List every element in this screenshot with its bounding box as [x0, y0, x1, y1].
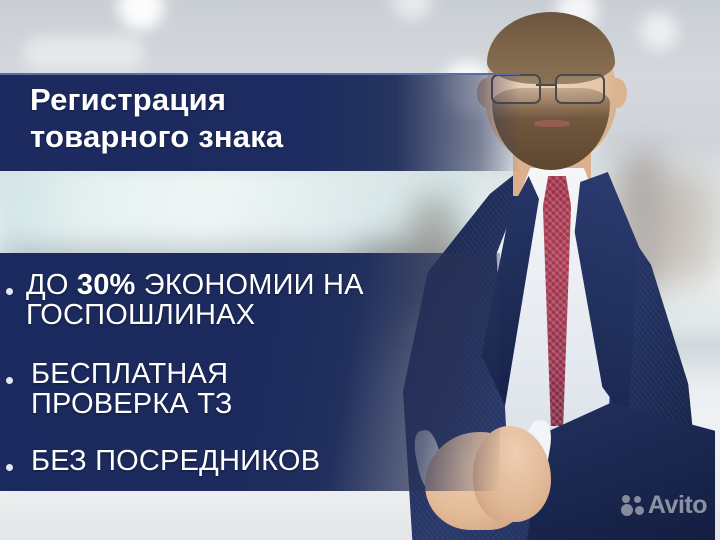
benefit-item: БЕЗ ПОСРЕДНИКОВ — [0, 446, 470, 476]
benefits-list: ДО 30% ЭКОНОМИИ НА ГОСПОШЛИНАХ БЕСПЛАТНА… — [0, 253, 470, 476]
ad-title: Регистрация товарного знака — [30, 81, 283, 155]
mouth — [534, 120, 570, 127]
title-banner: Регистрация товарного знака — [0, 73, 520, 171]
avito-dots-icon — [621, 495, 644, 516]
bullet-dot-icon — [6, 464, 13, 471]
bullet-dot-icon — [6, 288, 13, 295]
eyeglasses-bridge — [536, 84, 557, 86]
bokeh-light — [24, 36, 144, 70]
benefit-rest: БЕЗ ПОСРЕДНИКОВ — [31, 445, 320, 477]
benefit-text: БЕЗ ПОСРЕДНИКОВ — [31, 446, 320, 476]
benefit-lead: ДО — [26, 269, 77, 301]
benefit-text: БЕСПЛАТНАЯ ПРОВЕРКА ТЗ — [31, 359, 233, 419]
bullet-dot-icon — [6, 377, 13, 384]
benefit-item: ДО 30% ЭКОНОМИИ НА ГОСПОШЛИНАХ — [0, 270, 470, 330]
avito-watermark: Avito — [621, 493, 707, 518]
benefit-highlight: 30% — [77, 269, 136, 301]
advertisement-banner: Регистрация товарного знака ДО 30% ЭКОНО… — [0, 0, 720, 540]
eyeglasses-lens-right — [555, 74, 605, 104]
benefit-rest: БЕСПЛАТНАЯ ПРОВЕРКА ТЗ — [31, 358, 233, 420]
avito-wordmark: Avito — [648, 493, 707, 518]
benefit-item: БЕСПЛАТНАЯ ПРОВЕРКА ТЗ — [0, 359, 470, 419]
benefit-text: ДО 30% ЭКОНОМИИ НА ГОСПОШЛИНАХ — [26, 270, 364, 330]
